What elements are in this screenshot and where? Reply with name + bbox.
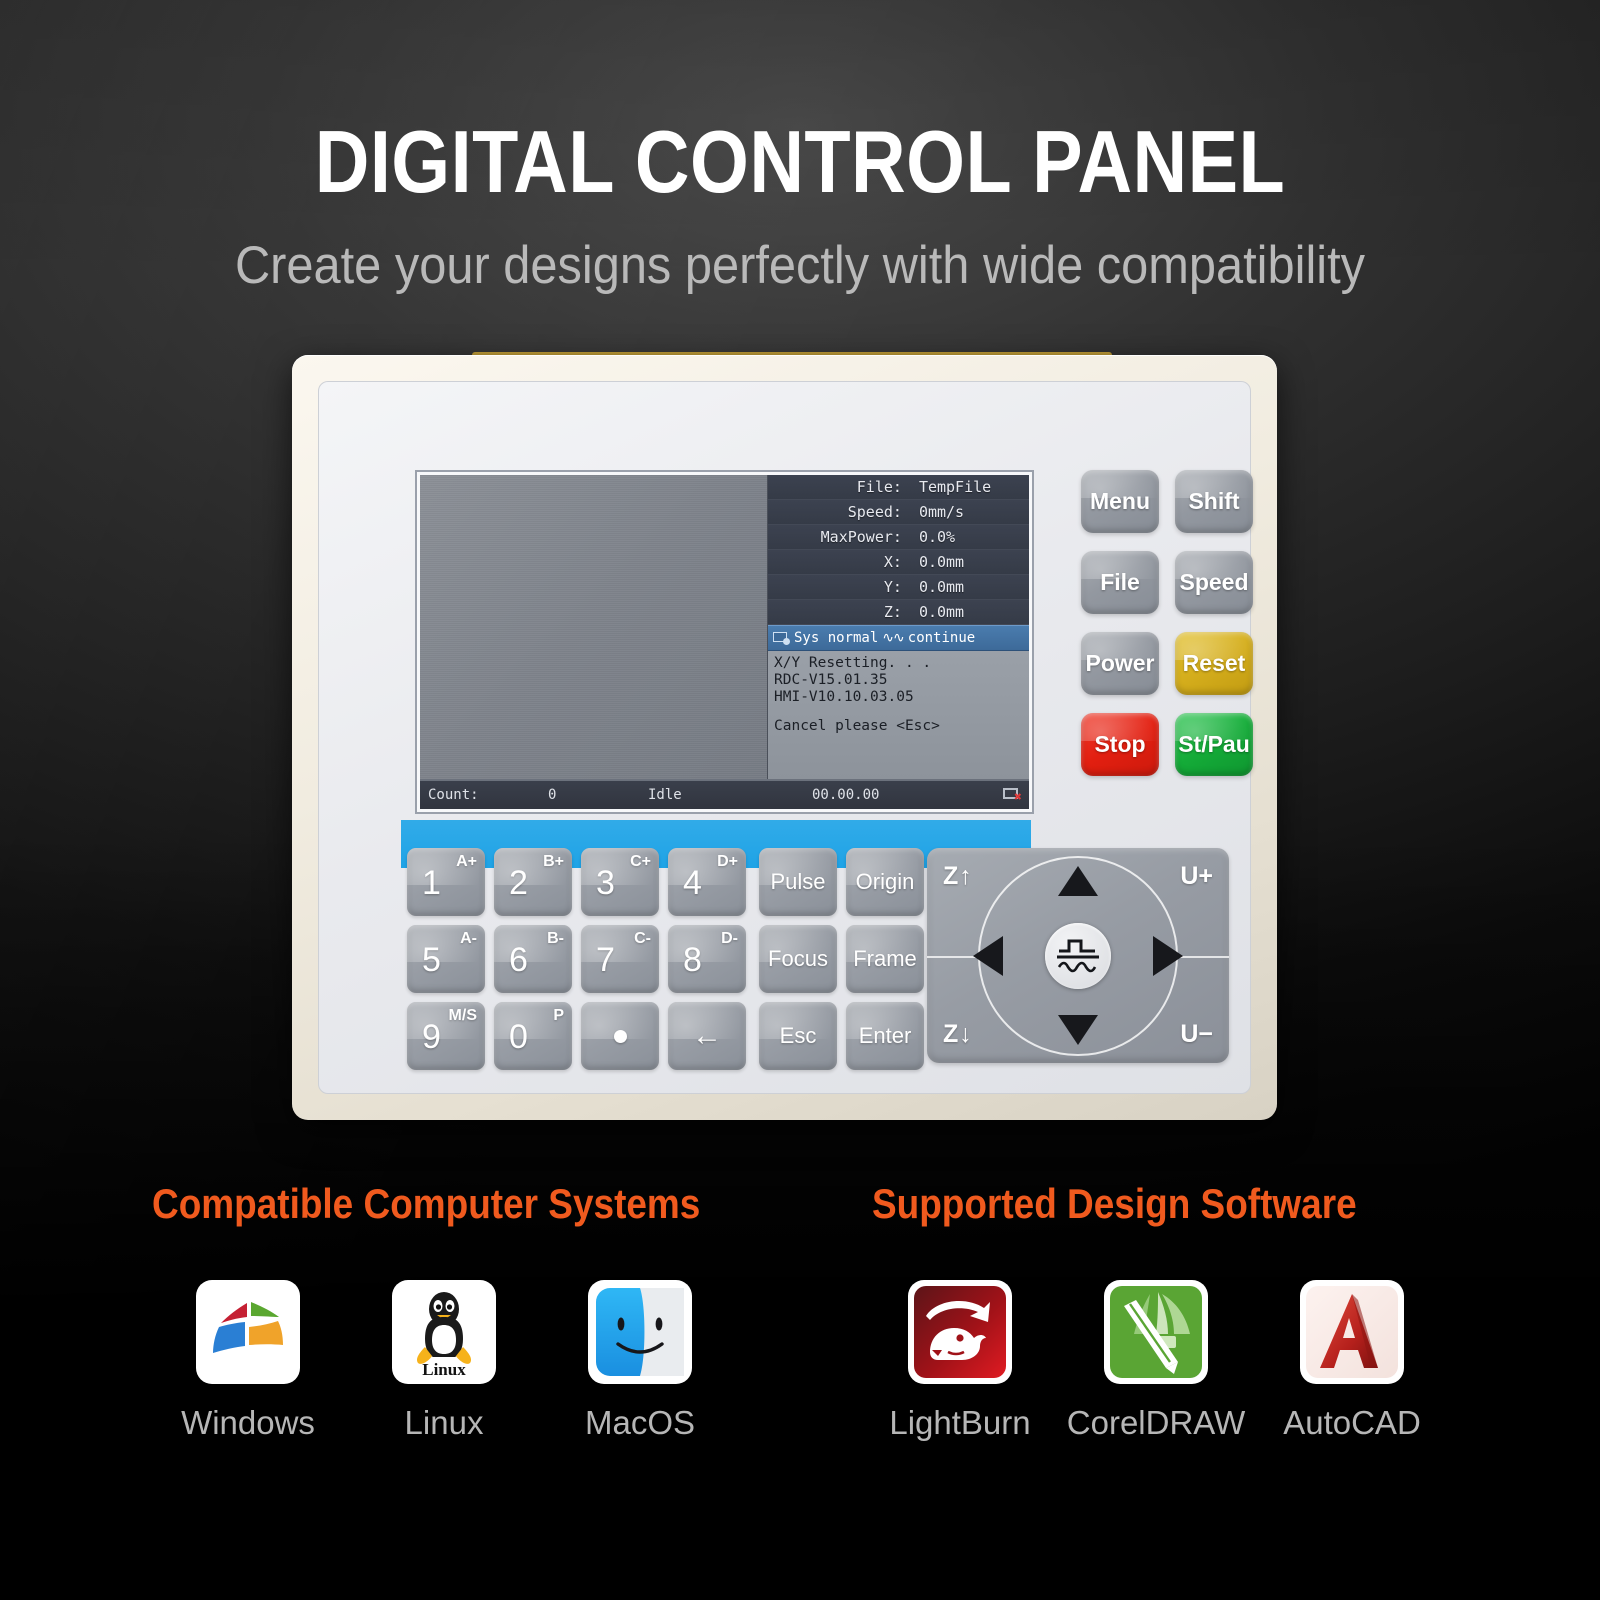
function-key-cluster: Pulse Origin Focus Frame Esc Enter bbox=[759, 848, 924, 1070]
lcd-field-z-key: Z: bbox=[768, 603, 909, 621]
lcd-field-x: X: 0.0mm bbox=[768, 550, 1029, 575]
lcd-field-maxpower-value: 0.0% bbox=[909, 528, 1029, 546]
lcd-field-speed-value: 0mm/s bbox=[909, 503, 1029, 521]
software-item-lightburn: LightBurn bbox=[862, 1280, 1058, 1442]
key-3[interactable]: 3 C+ bbox=[581, 848, 659, 916]
key-4-alt: D+ bbox=[717, 853, 738, 871]
menu-button[interactable]: Menu bbox=[1081, 470, 1159, 533]
lcd-field-file-value: TempFile bbox=[909, 478, 1029, 496]
lcd-message-line-1: X/Y Resetting. . . bbox=[774, 655, 1029, 672]
page-title: DIGITAL CONTROL PANEL bbox=[112, 118, 1488, 206]
lcd-preview-canvas bbox=[420, 475, 768, 779]
enter-button[interactable]: Enter bbox=[846, 1002, 924, 1070]
coreldraw-logo-tile bbox=[1104, 1280, 1208, 1384]
key-9-digit: 9 bbox=[422, 1018, 441, 1057]
lcd-info-panel: File: TempFile Speed: 0mm/s MaxPower: 0.… bbox=[768, 475, 1029, 779]
dpad-divider-left bbox=[927, 956, 979, 958]
lcd-field-list: File: TempFile Speed: 0mm/s MaxPower: 0.… bbox=[768, 475, 1029, 625]
lcd-status-continue: continue bbox=[908, 630, 975, 646]
page-root: DIGITAL CONTROL PANEL Create your design… bbox=[0, 0, 1600, 1600]
key-7[interactable]: 7 C- bbox=[581, 925, 659, 993]
lcd-count-label: Count: bbox=[428, 787, 479, 803]
software-label-autocad: AutoCAD bbox=[1283, 1404, 1421, 1442]
key-9-alt: M/S bbox=[449, 1007, 477, 1025]
controller-device: File: TempFile Speed: 0mm/s MaxPower: 0.… bbox=[292, 355, 1277, 1120]
lcd-screen: File: TempFile Speed: 0mm/s MaxPower: 0.… bbox=[417, 472, 1032, 812]
direction-pad: Z ↑ Z ↓ U+ U− bbox=[927, 848, 1229, 1063]
supported-software-list: LightBurn CorelDRAW bbox=[862, 1280, 1450, 1442]
system-item-macos: MacOS bbox=[542, 1280, 738, 1442]
key-1-digit: 1 bbox=[422, 864, 441, 903]
lcd-field-y: Y: 0.0mm bbox=[768, 575, 1029, 600]
nav-up-button[interactable] bbox=[1058, 866, 1098, 896]
lcd-field-x-key: X: bbox=[768, 553, 909, 571]
compatible-systems-title: Compatible Computer Systems bbox=[152, 1180, 700, 1228]
pulse-center-button[interactable] bbox=[1045, 923, 1111, 989]
nav-left-button[interactable] bbox=[973, 936, 1003, 976]
lcd-field-x-value: 0.0mm bbox=[909, 553, 1029, 571]
key-2-alt: B+ bbox=[543, 853, 564, 871]
lcd-prompt: Cancel please <Esc> bbox=[774, 718, 1029, 735]
key-6-alt: B- bbox=[547, 930, 564, 948]
software-label-lightburn: LightBurn bbox=[889, 1404, 1030, 1442]
pc-disconnected-icon: ✖ bbox=[1003, 788, 1021, 802]
macos-logo-tile bbox=[588, 1280, 692, 1384]
device-face: File: TempFile Speed: 0mm/s MaxPower: 0.… bbox=[318, 381, 1251, 1094]
key-2[interactable]: 2 B+ bbox=[494, 848, 572, 916]
dpad-divider-right bbox=[1177, 956, 1229, 958]
reset-button[interactable]: Reset bbox=[1175, 632, 1253, 695]
software-item-coreldraw: CorelDRAW bbox=[1058, 1280, 1254, 1442]
z-down-label: Z bbox=[943, 1020, 958, 1049]
key-decimal-point[interactable] bbox=[581, 1002, 659, 1070]
key-0-alt: P bbox=[553, 1007, 564, 1025]
key-5[interactable]: 5 A- bbox=[407, 925, 485, 993]
nav-down-button[interactable] bbox=[1058, 1015, 1098, 1045]
stop-button[interactable]: Stop bbox=[1081, 713, 1159, 776]
file-button[interactable]: File bbox=[1081, 551, 1159, 614]
lcd-field-maxpower: MaxPower: 0.0% bbox=[768, 525, 1029, 550]
key-2-digit: 2 bbox=[509, 864, 528, 903]
waveform-icon: ∿∿ bbox=[882, 630, 903, 646]
lightburn-logo-tile bbox=[908, 1280, 1012, 1384]
speed-button[interactable]: Speed bbox=[1175, 551, 1253, 614]
lcd-field-maxpower-key: MaxPower: bbox=[768, 528, 909, 546]
dot-icon bbox=[581, 1002, 659, 1070]
key-6[interactable]: 6 B- bbox=[494, 925, 572, 993]
lcd-field-file-key: File: bbox=[768, 478, 909, 496]
key-1[interactable]: 1 A+ bbox=[407, 848, 485, 916]
key-0[interactable]: 0 P bbox=[494, 1002, 572, 1070]
u-minus-button[interactable]: U− bbox=[1180, 1020, 1213, 1049]
key-8-alt: D- bbox=[721, 930, 738, 948]
compatible-systems-list: Windows Linux Linux bbox=[150, 1280, 738, 1442]
u-plus-button[interactable]: U+ bbox=[1180, 862, 1213, 891]
key-3-digit: 3 bbox=[596, 864, 615, 903]
key-4-digit: 4 bbox=[683, 864, 702, 903]
system-label-windows: Windows bbox=[181, 1404, 315, 1442]
lcd-field-file: File: TempFile bbox=[768, 475, 1029, 500]
pulse-waveform-icon bbox=[1055, 936, 1101, 976]
lcd-bottom-status-bar: Count: 0 Idle 00.00.00 ✖ bbox=[420, 779, 1029, 809]
lcd-elapsed-time: 00.00.00 bbox=[812, 787, 879, 803]
key-backspace[interactable]: ← bbox=[668, 1002, 746, 1070]
key-3-alt: C+ bbox=[630, 853, 651, 871]
windows-logo-icon bbox=[207, 1295, 289, 1369]
lcd-field-y-key: Y: bbox=[768, 578, 909, 596]
key-7-alt: C- bbox=[634, 930, 651, 948]
shift-button[interactable]: Shift bbox=[1175, 470, 1253, 533]
coreldraw-balloon-icon bbox=[1104, 1280, 1208, 1384]
software-label-coreldraw: CorelDRAW bbox=[1067, 1404, 1245, 1442]
esc-button[interactable]: Esc bbox=[759, 1002, 837, 1070]
key-8[interactable]: 8 D- bbox=[668, 925, 746, 993]
monitor-check-icon bbox=[773, 632, 790, 645]
system-label-macos: MacOS bbox=[585, 1404, 695, 1442]
frame-button[interactable]: Frame bbox=[846, 925, 924, 993]
lcd-field-speed: Speed: 0mm/s bbox=[768, 500, 1029, 525]
key-0-digit: 0 bbox=[509, 1018, 528, 1057]
lcd-field-z: Z: 0.0mm bbox=[768, 600, 1029, 625]
numeric-keypad: 1 A+ 2 B+ 3 C+ 4 D+ 5 A- bbox=[407, 848, 746, 1070]
linux-tux-icon: Linux bbox=[401, 1287, 487, 1377]
linux-wordmark: Linux bbox=[422, 1360, 466, 1377]
autocad-logo-tile bbox=[1300, 1280, 1404, 1384]
key-6-digit: 6 bbox=[509, 941, 528, 980]
lcd-field-speed-key: Speed: bbox=[768, 503, 909, 521]
lcd-count-value: 0 bbox=[548, 787, 556, 803]
nav-right-button[interactable] bbox=[1153, 936, 1183, 976]
linux-logo-tile: Linux bbox=[392, 1280, 496, 1384]
key-1-alt: A+ bbox=[456, 853, 477, 871]
lcd-message-line-3: HMI-V10.10.03.05 bbox=[774, 689, 1029, 706]
lcd-main-area: File: TempFile Speed: 0mm/s MaxPower: 0.… bbox=[420, 475, 1029, 779]
pulse-button[interactable]: Pulse bbox=[759, 848, 837, 916]
arrow-down-icon: ↓ bbox=[959, 1020, 972, 1049]
lightburn-dragon-icon bbox=[908, 1280, 1012, 1384]
focus-button[interactable]: Focus bbox=[759, 925, 837, 993]
lcd-message-area: X/Y Resetting. . . RDC-V15.01.35 HMI-V10… bbox=[768, 651, 1029, 779]
lcd-message-line-2: RDC-V15.01.35 bbox=[774, 672, 1029, 689]
windows-logo-tile bbox=[196, 1280, 300, 1384]
software-item-autocad: AutoCAD bbox=[1254, 1280, 1450, 1442]
power-button[interactable]: Power bbox=[1081, 632, 1159, 695]
arrow-up-icon: ↑ bbox=[959, 862, 972, 891]
system-label-linux: Linux bbox=[405, 1404, 484, 1442]
key-4[interactable]: 4 D+ bbox=[668, 848, 746, 916]
lcd-message-spacer bbox=[774, 706, 1029, 718]
lcd-status-bar: Sys normal ∿∿ continue bbox=[768, 625, 1029, 651]
lcd-machine-state: Idle bbox=[648, 787, 682, 803]
start-pause-button[interactable]: St/Pau bbox=[1175, 713, 1253, 776]
lcd-status-text: Sys normal bbox=[794, 630, 878, 646]
right-key-cluster: Menu Shift File Speed Power Reset Stop S… bbox=[1081, 470, 1253, 776]
page-subtitle: Create your designs perfectly with wide … bbox=[64, 235, 1536, 296]
z-up-button[interactable]: Z ↑ bbox=[943, 862, 972, 891]
z-up-label: Z bbox=[943, 862, 958, 891]
backspace-arrow-icon: ← bbox=[668, 1002, 746, 1070]
lcd-field-y-value: 0.0mm bbox=[909, 578, 1029, 596]
autocad-a-icon bbox=[1300, 1280, 1404, 1384]
system-item-windows: Windows bbox=[150, 1280, 346, 1442]
supported-software-title: Supported Design Software bbox=[872, 1180, 1357, 1228]
key-5-alt: A- bbox=[460, 930, 477, 948]
key-9[interactable]: 9 M/S bbox=[407, 1002, 485, 1070]
key-5-digit: 5 bbox=[422, 941, 441, 980]
key-7-digit: 7 bbox=[596, 941, 615, 980]
macos-finder-icon bbox=[588, 1280, 692, 1384]
system-item-linux: Linux Linux bbox=[346, 1280, 542, 1442]
z-down-button[interactable]: Z ↓ bbox=[943, 1020, 972, 1049]
lcd-field-z-value: 0.0mm bbox=[909, 603, 1029, 621]
origin-button[interactable]: Origin bbox=[846, 848, 924, 916]
key-8-digit: 8 bbox=[683, 941, 702, 980]
